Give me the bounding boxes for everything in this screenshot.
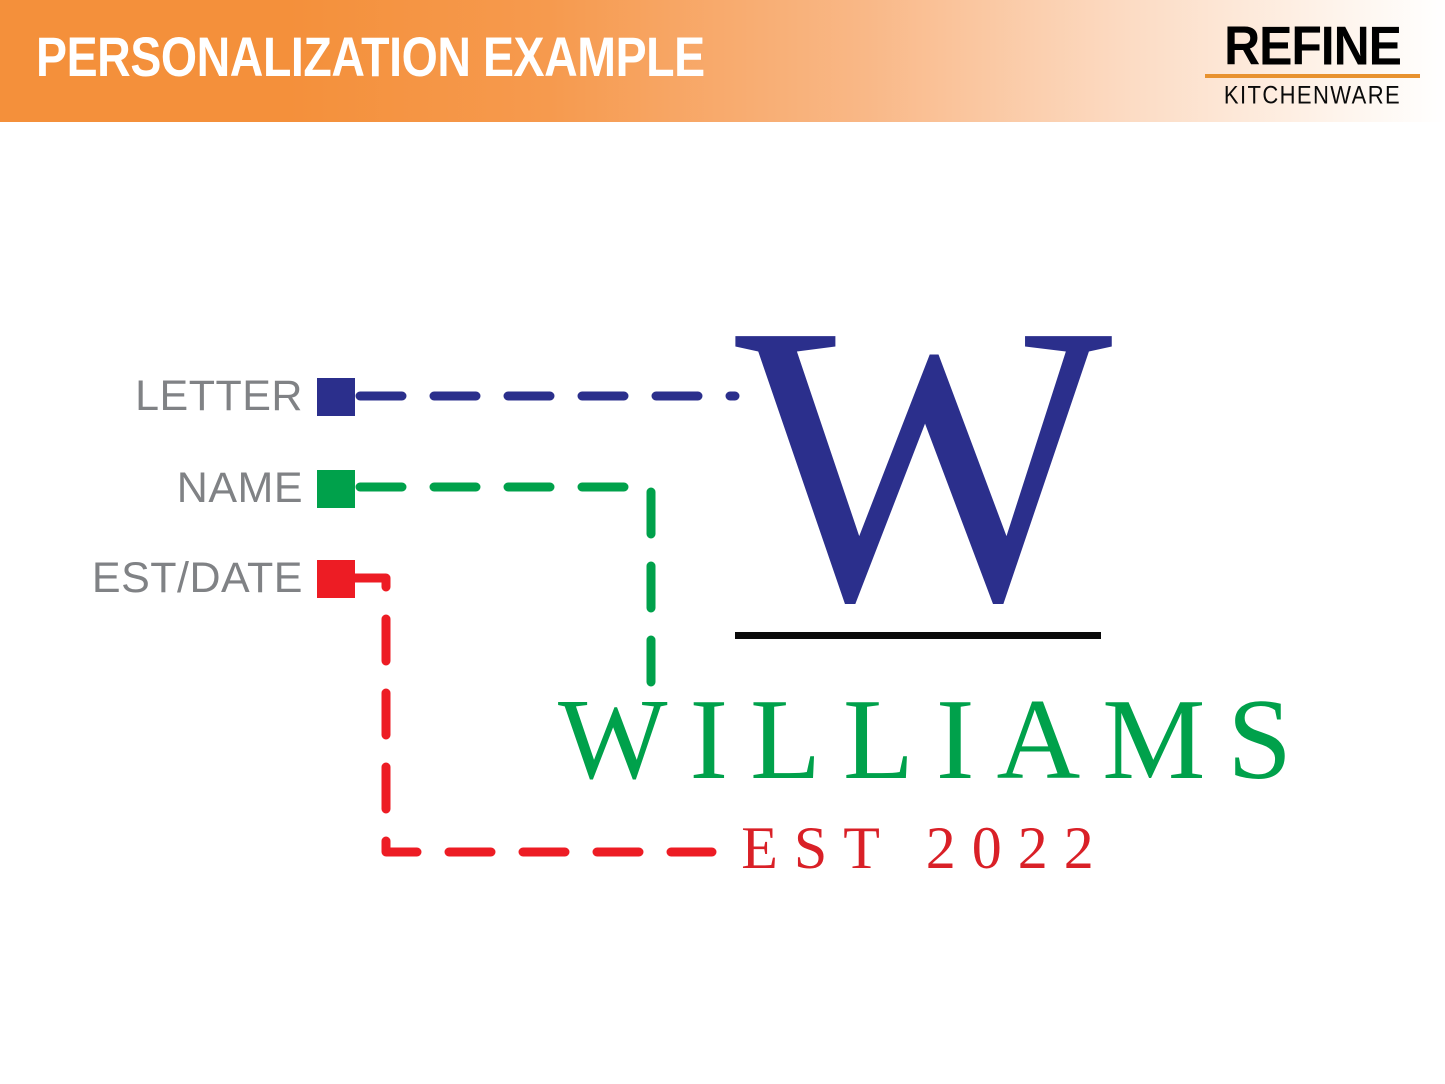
brand-subtitle: KITCHENWARE <box>1205 82 1420 108</box>
callout-swatch-letter <box>317 378 355 416</box>
brand-name: REFINE <box>1201 20 1425 76</box>
callout-label-name: NAME <box>177 467 303 510</box>
monogram-established-date: EST 2022 <box>450 817 1385 880</box>
header-banner: PERSONALIZATION EXAMPLE REFINE KITCHENWA… <box>0 0 1445 122</box>
callout-label-letter: LETTER <box>135 375 303 418</box>
callout-row-est-date: EST/DATE <box>55 557 355 600</box>
brand-logo: REFINE KITCHENWARE <box>1205 20 1420 105</box>
callout-swatch-name <box>317 470 355 508</box>
page-title: PERSONALIZATION EXAMPLE <box>36 27 705 87</box>
monogram-divider-rule <box>735 632 1101 639</box>
monogram-family-name: WILLIAMS <box>450 680 1400 802</box>
monogram-initial-letter: W <box>735 300 1105 628</box>
callout-row-letter: LETTER <box>55 375 355 418</box>
personalization-example-page: PERSONALIZATION EXAMPLE REFINE KITCHENWA… <box>0 0 1445 1084</box>
monogram-artwork: W WILLIAMS EST 2022 <box>430 300 1410 890</box>
callout-label-est-date: EST/DATE <box>92 557 303 600</box>
callout-swatch-est-date <box>317 560 355 598</box>
callout-row-name: NAME <box>55 467 355 510</box>
